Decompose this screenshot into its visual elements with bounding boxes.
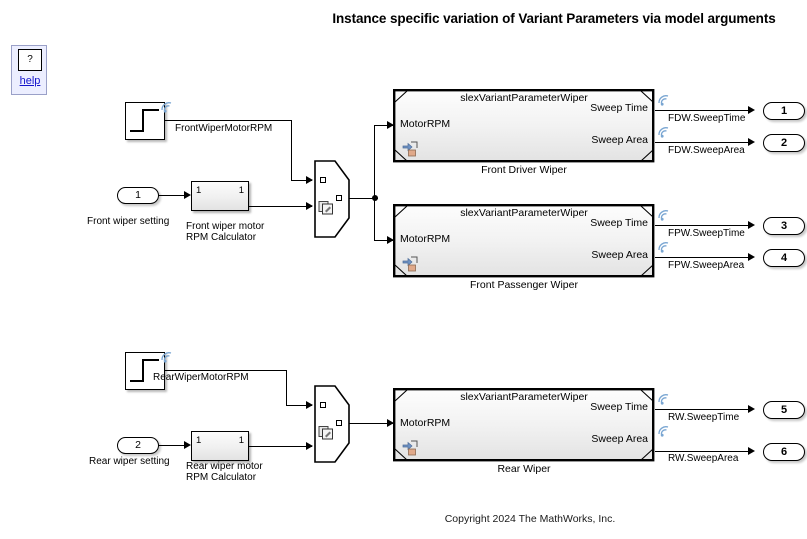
inport-front-caption: Front wiper setting <box>87 216 169 227</box>
wire-rw-sweeptime <box>655 409 753 410</box>
signal-antenna-icon-fpw-sweeptime <box>657 209 671 222</box>
variant-source-rear[interactable] <box>313 385 351 463</box>
signal-label-rw-sweeparea: RW.SweepArea <box>668 453 738 464</box>
wire-rear-calc-out <box>249 446 312 447</box>
wire-front-branch-down <box>374 198 375 241</box>
signal-antenna-icon-rear-step <box>160 351 174 364</box>
signal-antenna-icon-fdw-sweeparea <box>657 126 671 139</box>
model-ref-out2-label-rear: Sweep Area <box>591 433 648 445</box>
variant-source-front[interactable] <box>313 160 351 238</box>
arrow-outport-6 <box>748 447 755 455</box>
inport-rear-caption: Rear wiper setting <box>89 456 170 467</box>
arrow-front-variant-in1 <box>306 176 313 184</box>
model-ref-front-driver-wiper[interactable]: slexVariantParameterWiper MotorRPM Sweep… <box>393 89 655 163</box>
simulink-model-canvas: Instance specific variation of Variant P… <box>0 0 807 539</box>
wire-front-step-h1 <box>164 120 292 121</box>
caption-front-passenger-wiper: Front Passenger Wiper <box>393 279 655 291</box>
signal-antenna-icon-fdw-sweeptime <box>657 94 671 107</box>
variant-pages-icon-front <box>318 199 335 216</box>
question-mark-icon: ? <box>18 49 42 71</box>
model-ref-input-label-rear: MotorRPM <box>400 417 450 429</box>
signal-antenna-icon-rw-sweeptime <box>657 393 671 406</box>
signal-label-fdw-sweeparea: FDW.SweepArea <box>668 145 745 156</box>
model-reference-icon-front-driver <box>401 140 419 157</box>
wire-fdw-sweeptime <box>655 110 753 111</box>
rear-wiper-rpm-calculator-block[interactable]: 1 1 <box>191 431 249 461</box>
signal-label-front-step: FrontWiperMotorRPM <box>175 123 272 134</box>
arrow-rear-calc-in <box>184 441 191 449</box>
model-ref-rear-wiper[interactable]: slexVariantParameterWiper MotorRPM Sweep… <box>393 388 655 462</box>
caption-front-driver-wiper: Front Driver Wiper <box>393 164 655 176</box>
front-wiper-rpm-calculator-block[interactable]: 1 1 <box>191 181 249 211</box>
wire-front-branch-up <box>374 125 375 199</box>
rear-calc-caption-line2: RPM Calculator <box>186 472 256 483</box>
wire-rear-step-v <box>286 370 287 406</box>
signal-label-rw-sweeptime: RW.SweepTime <box>668 412 739 423</box>
wire-rear-inport <box>159 445 187 446</box>
variant-rear-port-in1 <box>320 402 326 408</box>
help-block[interactable]: ? help <box>11 45 47 95</box>
arrow-rear-variant-in2 <box>306 442 313 450</box>
arrow-rear-variant-in1 <box>306 401 313 409</box>
model-ref-out1-label-rear: Sweep Time <box>590 401 648 413</box>
step-block-front[interactable] <box>125 102 165 140</box>
wire-front-calc-out <box>249 206 312 207</box>
outport-1[interactable]: 1 <box>763 102 805 120</box>
calc-out-num-rear: 1 <box>239 435 244 446</box>
calc-in-num-rear: 1 <box>196 435 201 446</box>
signal-label-fdw-sweeptime: FDW.SweepTime <box>668 113 745 124</box>
copyright-notice: Copyright 2024 The MathWorks, Inc. <box>330 513 730 525</box>
step-waveform-icon <box>126 103 163 138</box>
variant-pages-icon-rear <box>318 424 335 441</box>
wire-front-step-v <box>291 120 292 181</box>
model-reference-icon-front-passenger <box>401 255 419 272</box>
signal-label-fpw-sweeptime: FPW.SweepTime <box>668 228 745 239</box>
variant-front-port-out <box>336 195 342 201</box>
signal-antenna-icon-rw-sweeparea <box>657 425 671 438</box>
front-calc-caption-line2: RPM Calculator <box>186 232 256 243</box>
wire-fpw-sweeptime <box>655 225 753 226</box>
outport-4[interactable]: 4 <box>763 249 805 267</box>
page-title: Instance specific variation of Variant P… <box>303 10 805 27</box>
calc-out-num-front: 1 <box>239 185 244 196</box>
variant-front-port-in1 <box>320 177 326 183</box>
wire-fpw-sweeparea <box>655 257 753 258</box>
arrow-outport-4 <box>748 253 755 261</box>
outport-2[interactable]: 2 <box>763 134 805 152</box>
outport-5[interactable]: 5 <box>763 401 805 419</box>
outport-3[interactable]: 3 <box>763 217 805 235</box>
model-ref-out1-label-front-driver: Sweep Time <box>590 102 648 114</box>
model-ref-input-label-front-driver: MotorRPM <box>400 118 450 130</box>
model-reference-icon-rear <box>401 439 419 456</box>
variant-rear-port-out <box>336 420 342 426</box>
signal-antenna-icon-front-step <box>160 101 174 114</box>
arrow-outport-2 <box>748 138 755 146</box>
calc-in-num-front: 1 <box>196 185 201 196</box>
model-ref-input-label-front-passenger: MotorRPM <box>400 233 450 245</box>
arrow-outport-3 <box>748 221 755 229</box>
model-ref-out2-label-front-passenger: Sweep Area <box>591 249 648 261</box>
front-calc-caption-line1: Front wiper motor <box>186 221 256 232</box>
outport-6[interactable]: 6 <box>763 443 805 461</box>
signal-label-rear-step: RearWiperMotorRPM <box>153 372 249 383</box>
wire-front-inport <box>159 195 187 196</box>
arrow-outport-1 <box>748 106 755 114</box>
rear-calc-caption-line1: Rear wiper motor <box>186 461 256 472</box>
arrow-front-calc-in <box>184 191 191 199</box>
inport-rear-wiper-setting[interactable]: 2 <box>117 437 159 454</box>
step-block-rear[interactable] <box>125 352 165 390</box>
arrow-front-variant-in2 <box>306 202 313 210</box>
caption-rear-wiper: Rear Wiper <box>393 463 655 475</box>
signal-antenna-icon-fpw-sweeparea <box>657 241 671 254</box>
signal-label-fpw-sweeparea: FPW.SweepArea <box>668 260 744 271</box>
model-ref-out2-label-front-driver: Sweep Area <box>591 134 648 146</box>
arrow-outport-5 <box>748 405 755 413</box>
model-ref-out1-label-front-passenger: Sweep Time <box>590 217 648 229</box>
wire-fdw-sweeparea <box>655 142 753 143</box>
help-link[interactable]: help <box>12 75 48 87</box>
model-ref-front-passenger-wiper[interactable]: slexVariantParameterWiper MotorRPM Sweep… <box>393 204 655 278</box>
inport-front-wiper-setting[interactable]: 1 <box>117 187 159 204</box>
